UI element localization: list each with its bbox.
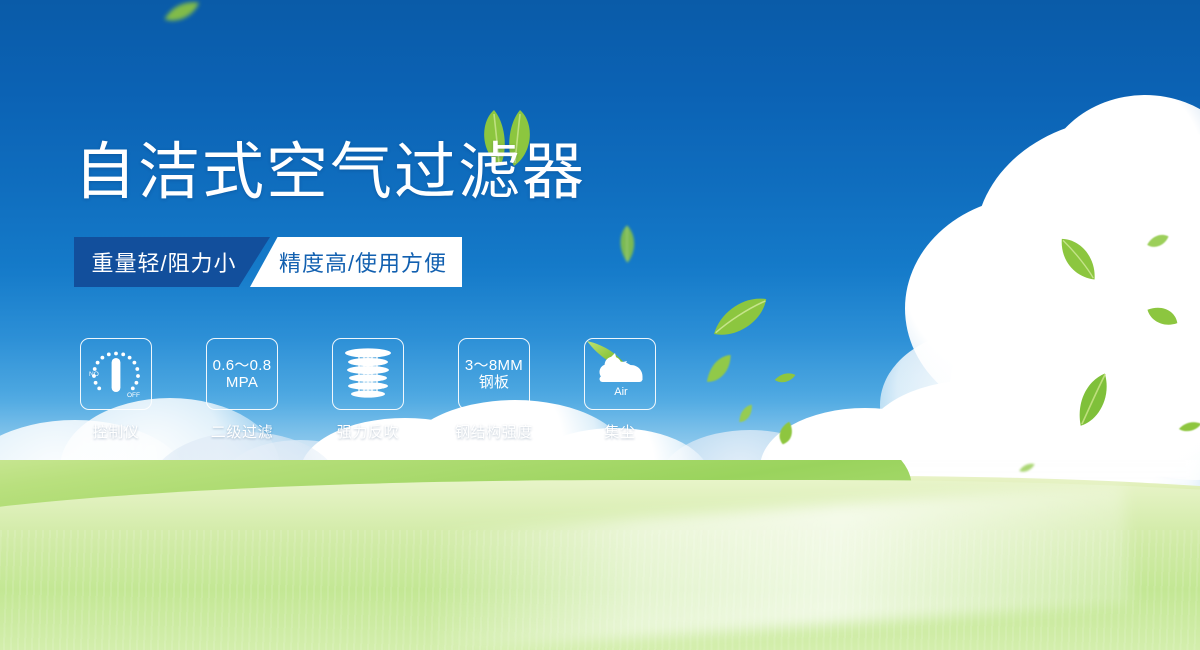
air-cloud-icon: Air [585,339,656,410]
ribbon-right-tag: 精度高/使用方便 [250,237,462,287]
feature-icon-box: 0.6～0.8 MPA [206,338,278,410]
steel-line2: 钢板 [465,374,523,391]
subtitle-ribbon: 重量轻/阻力小 精度高/使用方便 [74,237,462,287]
feature-label: 集尘 [604,421,635,442]
feature-icon-box: NO OFF [80,338,152,410]
pressure-text-icon: 0.6～0.8 MPA [213,357,272,392]
filter-cartridge-icon [342,346,394,402]
feature-icon-box [332,338,404,410]
feature-item[interactable]: NO OFF 控制仪 [80,338,152,442]
feature-item[interactable]: Air 集尘 [584,338,656,442]
pressure-line2: MPA [213,374,272,391]
feature-label: 二级过滤 [211,421,273,442]
feature-icon-box: 3～8MM 钢板 [458,338,530,410]
product-banner: 自洁式空气过滤器 重量轻/阻力小 精度高/使用方便 [0,0,1200,650]
pressure-line1: 0.6～0.8 [213,357,272,374]
control-dial-icon: NO OFF [86,345,146,403]
page-title: 自洁式空气过滤器 [74,142,586,204]
steel-line1: 3～8MM [465,357,523,374]
feature-item[interactable]: 3～8MM 钢板 钢结构强度 [458,338,530,442]
ribbon-right-text: 精度高/使用方便 [250,246,462,278]
air-label: Air [614,386,628,398]
feature-icon-row: NO OFF 控制仪 0.6～0.8 MPA 二级过滤 [80,338,656,442]
feature-item[interactable]: 0.6～0.8 MPA 二级过滤 [206,338,278,442]
feature-icon-box: Air [584,338,656,410]
ribbon-left-tag: 重量轻/阻力小 [74,237,270,287]
dial-off-label: OFF [127,392,140,399]
feature-label: 控制仪 [93,421,140,442]
feature-label: 钢结构强度 [455,421,533,442]
feature-label: 强力反吹 [337,421,399,442]
steel-plate-text-icon: 3～8MM 钢板 [465,357,523,392]
banner-content: 自洁式空气过滤器 重量轻/阻力小 精度高/使用方便 [0,0,1200,650]
dial-on-label: NO [89,371,99,378]
feature-item[interactable]: 强力反吹 [332,338,404,442]
ribbon-left-text: 重量轻/阻力小 [74,246,270,278]
